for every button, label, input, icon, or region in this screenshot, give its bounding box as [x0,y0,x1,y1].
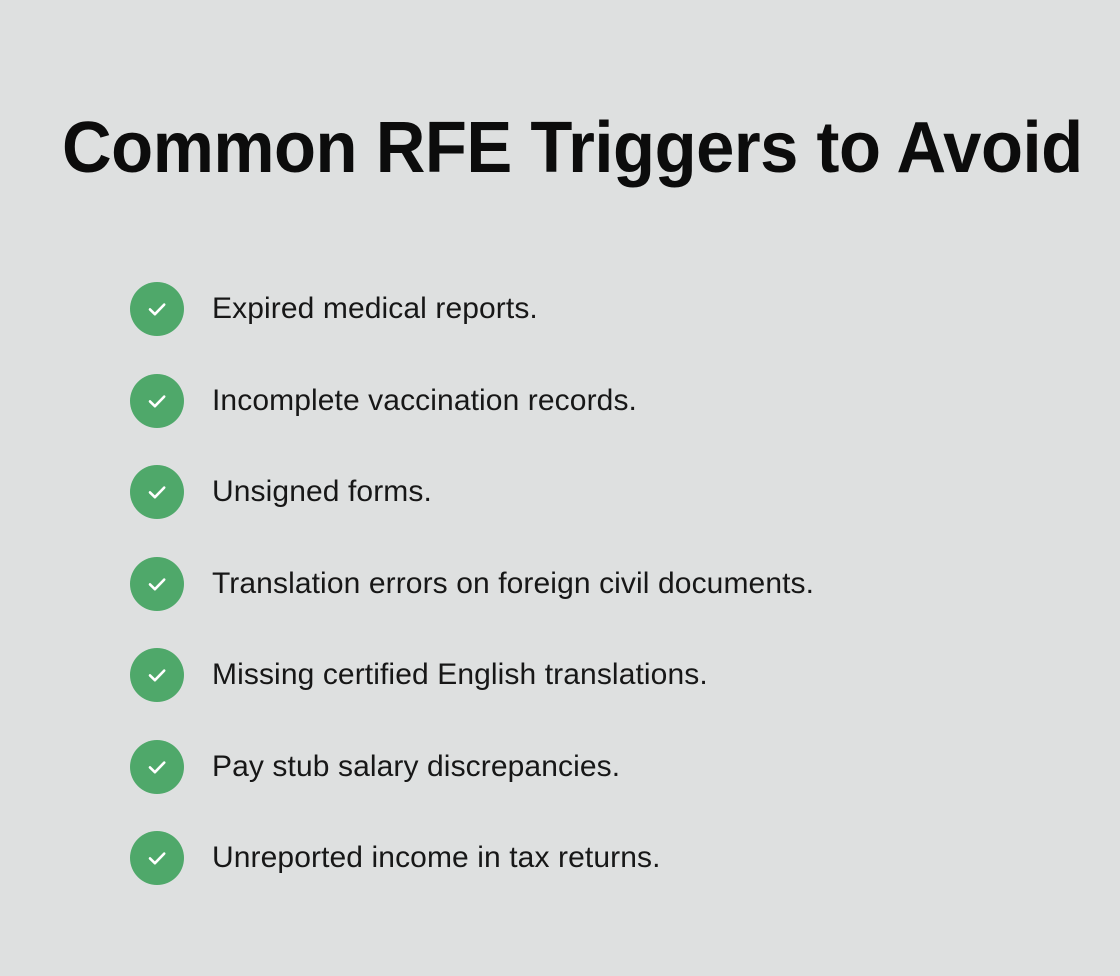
list-item-label: Missing certified English translations. [212,658,708,692]
list-item-label: Translation errors on foreign civil docu… [212,567,814,601]
page-title: Common RFE Triggers to Avoid [62,104,1017,192]
list-item-label: Incomplete vaccination records. [212,384,637,418]
check-circle-icon [130,282,184,336]
list-item: Unreported income in tax returns. [130,831,1070,885]
check-circle-icon [130,465,184,519]
list-item-label: Unreported income in tax returns. [212,841,661,875]
list-item: Pay stub salary discrepancies. [130,740,1070,794]
list-item: Translation errors on foreign civil docu… [130,557,1070,611]
check-circle-icon [130,831,184,885]
list-item: Unsigned forms. [130,465,1070,519]
list-item-label: Expired medical reports. [212,292,538,326]
check-circle-icon [130,374,184,428]
list-item: Incomplete vaccination records. [130,374,1070,428]
rfe-trigger-checklist: Expired medical reports. Incomplete vacc… [130,282,1070,885]
list-item-label: Unsigned forms. [212,475,432,509]
list-item: Expired medical reports. [130,282,1070,336]
check-circle-icon [130,740,184,794]
slide-canvas: Common RFE Triggers to Avoid Expired med… [0,0,1120,976]
list-item-label: Pay stub salary discrepancies. [212,750,620,784]
list-item: Missing certified English translations. [130,648,1070,702]
check-circle-icon [130,648,184,702]
check-circle-icon [130,557,184,611]
